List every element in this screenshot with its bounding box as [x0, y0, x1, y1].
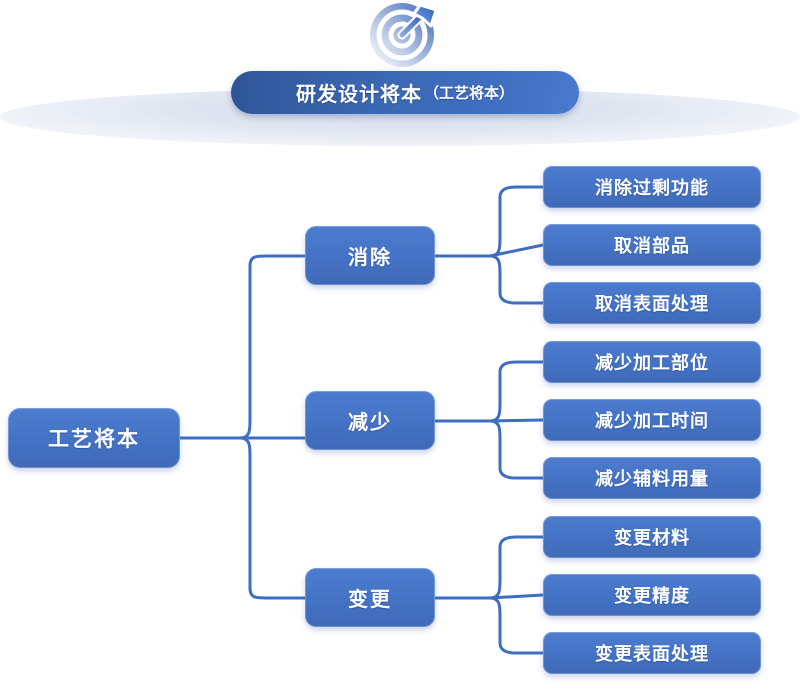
page-title: 研发设计将本 （工艺将本） — [231, 71, 579, 114]
node-leaf-biangeng-1[interactable]: 变更材料 — [543, 516, 761, 558]
node-leaf-jianshao-1[interactable]: 减少加工部位 — [543, 341, 761, 383]
connector-root-to-biangeng — [240, 438, 305, 598]
node-leaf-label: 变更精度 — [614, 582, 690, 608]
node-leaf-label: 减少加工部位 — [595, 349, 709, 375]
connector-jianshao-leaf-1 — [490, 362, 543, 421]
connector-jianshao-leaf-3 — [490, 421, 543, 478]
node-leaf-label: 取消表面处理 — [595, 290, 709, 316]
page-title-sub: （工艺将本） — [424, 82, 514, 103]
node-root[interactable]: 工艺将本 — [8, 408, 180, 468]
node-leaf-xiaochu-1[interactable]: 消除过剩功能 — [543, 166, 761, 208]
connector-xiaochu-leaf-1 — [490, 187, 543, 256]
node-leaf-xiaochu-2[interactable]: 取消部品 — [543, 224, 761, 266]
connector-xiaochu-leaf-2 — [490, 245, 543, 256]
node-branch-jianshao[interactable]: 减少 — [305, 391, 435, 450]
node-leaf-jianshao-2[interactable]: 减少加工时间 — [543, 399, 761, 441]
node-leaf-label: 消除过剩功能 — [595, 174, 709, 200]
connector-jianshao-leaf-2 — [490, 420, 543, 421]
node-branch-biangeng[interactable]: 变更 — [305, 568, 435, 627]
node-leaf-label: 取消部品 — [614, 232, 690, 258]
node-branch-xiaochu[interactable]: 消除 — [305, 226, 435, 285]
connector-biangeng-leaf-2 — [490, 595, 543, 598]
node-branch-biangeng-label: 变更 — [348, 583, 392, 612]
node-leaf-label: 减少辅料用量 — [595, 465, 709, 491]
node-leaf-label: 减少加工时间 — [595, 407, 709, 433]
node-leaf-jianshao-3[interactable]: 减少辅料用量 — [543, 457, 761, 499]
connector-biangeng-leaf-1 — [490, 537, 543, 598]
node-leaf-label: 变更表面处理 — [595, 640, 709, 666]
node-leaf-biangeng-2[interactable]: 变更精度 — [543, 574, 761, 616]
node-leaf-label: 变更材料 — [614, 524, 690, 550]
node-root-label: 工艺将本 — [48, 423, 140, 453]
target-arrow-icon — [362, 0, 446, 68]
node-leaf-biangeng-3[interactable]: 变更表面处理 — [543, 632, 761, 674]
node-leaf-xiaochu-3[interactable]: 取消表面处理 — [543, 282, 761, 324]
page-title-main: 研发设计将本 — [296, 78, 422, 107]
node-branch-jianshao-label: 减少 — [348, 406, 392, 435]
node-branch-xiaochu-label: 消除 — [348, 241, 392, 270]
diagram-canvas: 研发设计将本 （工艺将本） 工艺将本 消除 减少 变更 — [0, 0, 800, 689]
connector-biangeng-leaf-3 — [490, 598, 543, 653]
connector-xiaochu-leaf-3 — [490, 256, 543, 303]
connector-root-to-xiaochu — [240, 256, 305, 438]
